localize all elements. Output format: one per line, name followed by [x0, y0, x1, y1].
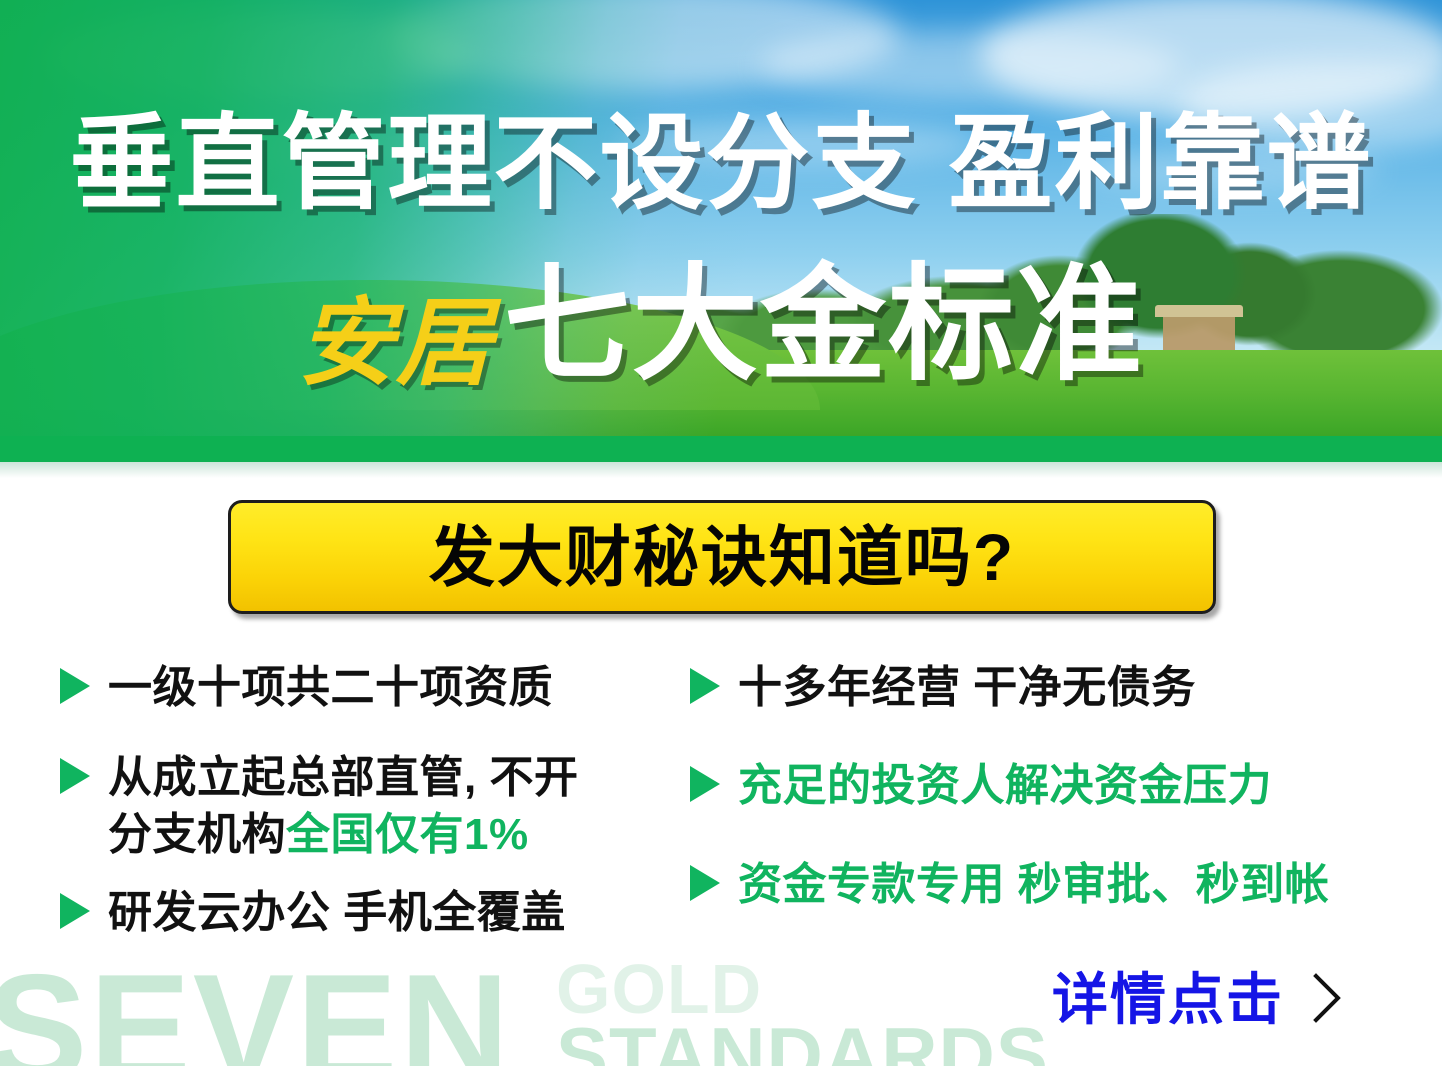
list-item: 充足的投资人解决资金压力 — [690, 758, 1390, 814]
chevron-right-icon — [1310, 970, 1344, 1031]
hero-dropshadow — [0, 462, 1442, 478]
feature-text: 一级十项共二十项资质 — [108, 660, 553, 716]
watermark-seven: SEVEN — [0, 952, 511, 1066]
watermark-standards: STANDARDS — [556, 1016, 1049, 1066]
hero-section: 垂直管理不设分支 盈利靠谱 安居七大金标准 — [0, 0, 1442, 462]
highlight-banner[interactable]: 发大财秘诀知道吗? — [228, 500, 1216, 614]
list-item: 资金专款专用 秒审批、秒到帐 — [690, 857, 1390, 913]
feature-text-line2-plain: 分支机构 — [108, 810, 286, 859]
hero-subheadline-main: 七大金标准 — [504, 254, 1144, 395]
triangle-right-icon — [690, 766, 720, 802]
highlight-banner-text: 发大财秘诀知道吗? — [429, 524, 1015, 590]
features-section: 一级十项共二十项资质 从成立起总部直管, 不开 分支机构全国仅有1% 研发云办公… — [0, 660, 1442, 960]
features-right-column: 十多年经营 干净无债务 充足的投资人解决资金压力 资金专款专用 秒审批、秒到帐 — [690, 660, 1390, 955]
details-cta-label: 详情点击 — [1052, 972, 1284, 1028]
hero-headline: 垂直管理不设分支 盈利靠谱 — [0, 112, 1442, 216]
triangle-right-icon — [60, 668, 90, 704]
list-item: 十多年经营 干净无债务 — [690, 660, 1390, 716]
watermark: SEVEN GOLD STANDARDS — [0, 952, 1100, 1066]
feature-text: 资金专款专用 秒审批、秒到帐 — [738, 857, 1329, 913]
feature-text: 研发云办公 手机全覆盖 — [108, 885, 566, 941]
triangle-right-icon — [690, 865, 720, 901]
feature-text: 从成立起总部直管, 不开 分支机构全国仅有1% — [108, 750, 578, 863]
triangle-right-icon — [60, 758, 90, 794]
triangle-right-icon — [60, 893, 90, 929]
feature-text: 充足的投资人解决资金压力 — [738, 758, 1272, 814]
list-item: 从成立起总部直管, 不开 分支机构全国仅有1% — [60, 750, 680, 863]
list-item: 研发云办公 手机全覆盖 — [60, 885, 680, 941]
hero-bottom-green-band — [0, 436, 1442, 462]
list-item: 一级十项共二十项资质 — [60, 660, 680, 716]
features-left-column: 一级十项共二十项资质 从成立起总部直管, 不开 分支机构全国仅有1% 研发云办公… — [60, 660, 680, 967]
feature-text-line2-highlight: 全国仅有1% — [286, 810, 529, 859]
feature-text: 十多年经营 干净无债务 — [738, 660, 1196, 716]
hero-subheadline-prefix: 安居 — [298, 290, 494, 397]
hero-subheadline: 安居七大金标准 — [0, 262, 1442, 392]
promo-banner-page: 垂直管理不设分支 盈利靠谱 安居七大金标准 发大财秘诀知道吗? SEVEN GO… — [0, 0, 1442, 1066]
feature-text-line1: 从成立起总部直管, 不开 — [108, 753, 578, 802]
details-cta[interactable]: 详情点击 — [1052, 968, 1344, 1031]
triangle-right-icon — [690, 668, 720, 704]
